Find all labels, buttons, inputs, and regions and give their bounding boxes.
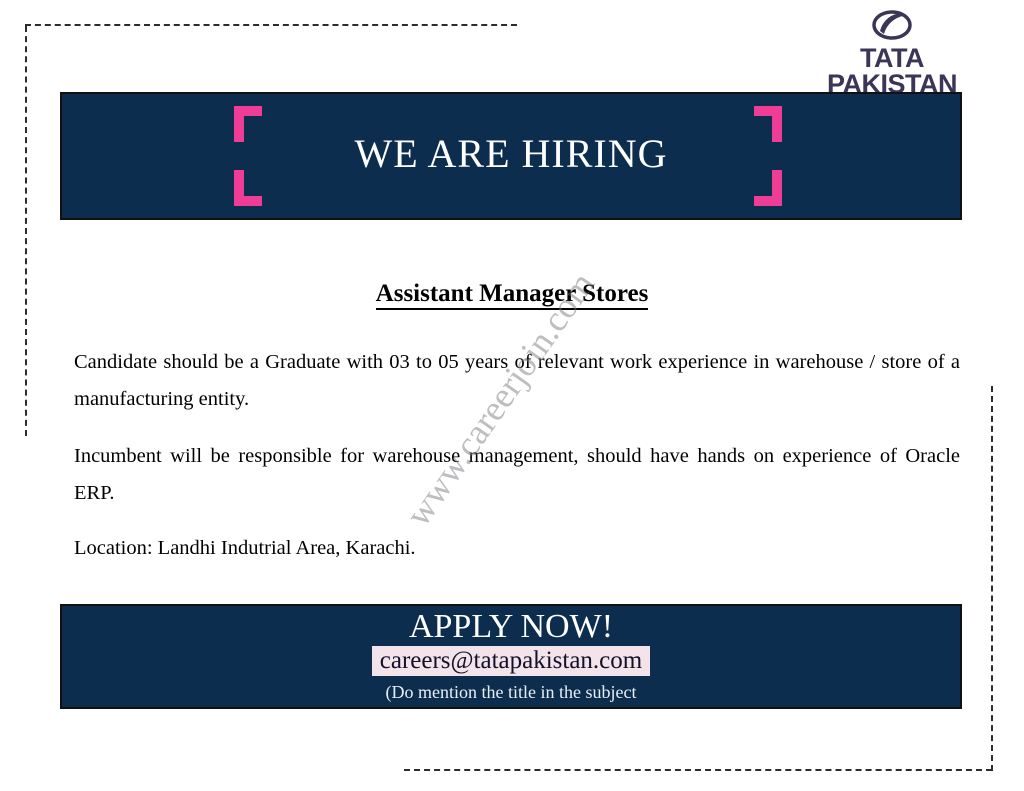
apply-subject-note: (Do mention the title in the subject [62, 681, 960, 703]
dashed-border-top [25, 24, 517, 26]
job-title-text: Assistant Manager Stores [376, 280, 649, 310]
apply-email-wrapper: careers@tatapakistan.com [62, 646, 960, 676]
banner-title: WE ARE HIRING [62, 130, 960, 177]
job-title: Assistant Manager Stores [0, 280, 1024, 308]
dashed-border-left [25, 26, 27, 436]
company-logo: TATA PAKISTAN [817, 10, 967, 98]
hiring-banner: WE ARE HIRING [60, 92, 962, 220]
dashed-border-bottom [404, 769, 992, 771]
tata-swirl-icon [817, 10, 967, 44]
apply-banner: APPLY NOW! careers@tatapakistan.com (Do … [60, 604, 962, 709]
dashed-border-right [991, 386, 993, 771]
job-responsibilities: Incumbent will be responsible for wareho… [74, 438, 960, 512]
apply-email-address[interactable]: careers@tatapakistan.com [372, 646, 650, 676]
job-requirements: Candidate should be a Graduate with 03 t… [74, 344, 960, 418]
logo-text-tata: TATA [817, 45, 967, 71]
apply-heading: APPLY NOW! [62, 608, 960, 646]
job-location: Location: Landhi Indutrial Area, Karachi… [74, 530, 960, 567]
